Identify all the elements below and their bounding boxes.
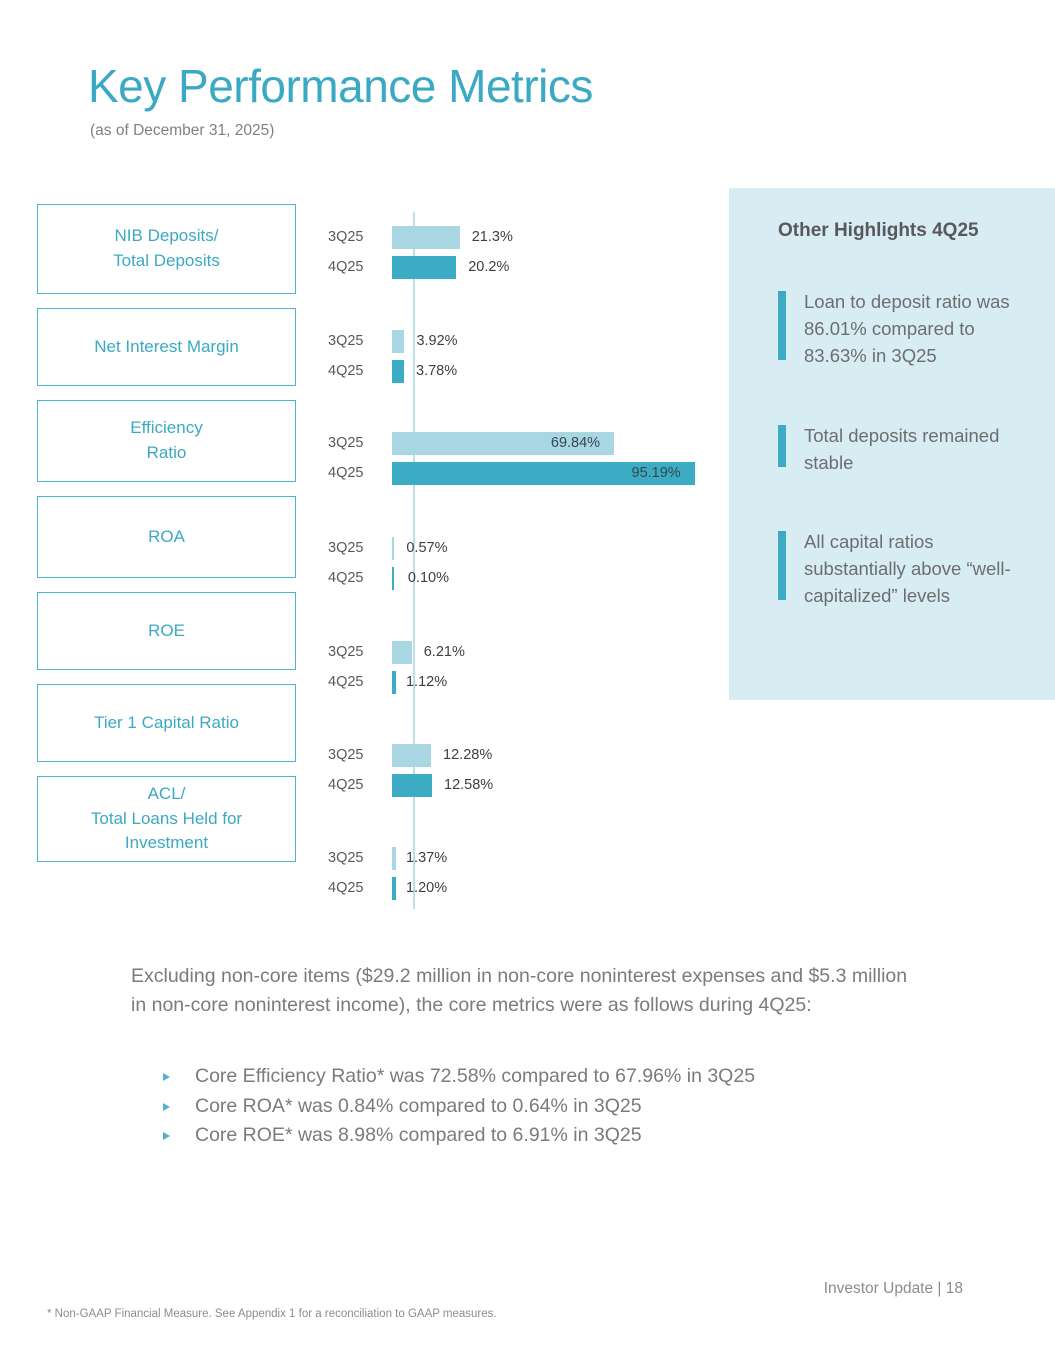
footer-page-label: Investor Update | 18 — [824, 1280, 963, 1298]
highlight-accent-bar — [778, 531, 786, 600]
bar-light — [392, 641, 412, 664]
bar-track: 1.37% — [392, 843, 720, 873]
bar-row: 4Q2512.58% — [320, 770, 720, 800]
bar-dark — [392, 877, 396, 900]
metric-label-box: Tier 1 Capital Ratio — [37, 684, 296, 762]
bar-row: 4Q2595.19% — [320, 458, 720, 488]
bar-quarter-label: 3Q25 — [320, 747, 392, 763]
bar-row: 3Q256.21% — [320, 637, 720, 667]
highlight-accent-bar — [778, 291, 786, 360]
bar-row: 4Q250.10% — [320, 563, 720, 593]
bar-row: 4Q253.78% — [320, 356, 720, 386]
list-item: Core ROE* was 8.98% compared to 6.91% in… — [160, 1121, 960, 1151]
bar-quarter-label: 3Q25 — [320, 540, 392, 556]
highlight-item: Loan to deposit ratio was 86.01% compare… — [778, 288, 1031, 370]
core-metrics-narrative: Excluding non-core items ($29.2 million … — [131, 962, 921, 1021]
bar-value-label: 12.58% — [444, 777, 493, 793]
highlights-list: Loan to deposit ratio was 86.01% compare… — [778, 288, 1031, 610]
metric-label-box: ROA — [37, 496, 296, 578]
footnote-text: * Non-GAAP Financial Measure. See Append… — [47, 1308, 497, 1320]
triangle-bullet-icon — [163, 1103, 170, 1111]
bar-value-label: 3.92% — [416, 333, 457, 349]
bar-track: 3.92% — [392, 326, 720, 356]
core-metrics-bullet-list: Core Efficiency Ratio* was 72.58% compar… — [160, 1062, 960, 1151]
bar-quarter-label: 4Q25 — [320, 570, 392, 586]
bar-value-label: 6.21% — [424, 644, 465, 660]
highlight-item: Total deposits remained stable — [778, 422, 1031, 476]
other-highlights-panel: Other Highlights 4Q25 Loan to deposit ra… — [729, 188, 1055, 700]
bar-quarter-label: 4Q25 — [320, 674, 392, 690]
kpi-bar-chart: 3Q2521.3%4Q2520.2%3Q253.92%4Q253.78%3Q25… — [320, 204, 720, 924]
metric-label-box: ACL/Total Loans Held forInvestment — [37, 776, 296, 862]
list-item: Core ROA* was 0.84% compared to 0.64% in… — [160, 1092, 960, 1122]
bar-track: 1.20% — [392, 873, 720, 903]
chart-group-tier-1-capital-ratio: 3Q2512.28%4Q2512.58% — [320, 740, 720, 800]
bar-quarter-label: 3Q25 — [320, 435, 392, 451]
bar-track: 0.10% — [392, 563, 720, 593]
metric-label-text: Tier 1 Capital Ratio — [94, 711, 239, 736]
bar-row: 3Q253.92% — [320, 326, 720, 356]
bar-quarter-label: 4Q25 — [320, 363, 392, 379]
bar-track: 21.3% — [392, 222, 720, 252]
bar-quarter-label: 4Q25 — [320, 880, 392, 896]
bar-row: 3Q251.37% — [320, 843, 720, 873]
bar-dark: 95.19% — [392, 462, 695, 485]
bar-track: 0.57% — [392, 533, 720, 563]
metric-label-text: ROE — [148, 619, 185, 644]
bar-track: 1.12% — [392, 667, 720, 697]
chart-group-roe: 3Q256.21%4Q251.12% — [320, 637, 720, 697]
highlight-accent-bar — [778, 425, 786, 467]
chart-group-roa: 3Q250.57%4Q250.10% — [320, 533, 720, 593]
bar-light — [392, 537, 394, 560]
bar-track: 6.21% — [392, 637, 720, 667]
bar-track: 20.2% — [392, 252, 720, 282]
bar-track: 95.19% — [392, 458, 720, 488]
highlight-text: Total deposits remained stable — [804, 425, 999, 473]
bar-light — [392, 847, 396, 870]
bar-row: 3Q2521.3% — [320, 222, 720, 252]
list-item-label: Core ROA* was 0.84% compared to 0.64% in… — [195, 1095, 642, 1117]
bar-value-label: 12.28% — [443, 747, 492, 763]
bar-value-label: 0.57% — [406, 540, 447, 556]
bar-quarter-label: 3Q25 — [320, 333, 392, 349]
bar-light — [392, 330, 404, 353]
bar-row: 4Q251.12% — [320, 667, 720, 697]
metric-label-text: ACL/Total Loans Held forInvestment — [91, 782, 242, 856]
chart-group-efficiency-ratio: 3Q2569.84%4Q2595.19% — [320, 428, 720, 488]
metric-label-text: EfficiencyRatio — [130, 416, 202, 465]
highlight-item: All capital ratios substantially above “… — [778, 528, 1031, 610]
bar-row: 3Q250.57% — [320, 533, 720, 563]
page-subtitle: (as of December 31, 2025) — [90, 122, 274, 140]
bar-row: 3Q2512.28% — [320, 740, 720, 770]
bar-dark — [392, 671, 396, 694]
bar-dark — [392, 774, 432, 797]
metric-label-box: EfficiencyRatio — [37, 400, 296, 482]
bar-value-label: 1.12% — [406, 674, 447, 690]
metric-label-box: Net Interest Margin — [37, 308, 296, 386]
metric-label-box: ROE — [37, 592, 296, 670]
bar-value-label: 1.20% — [406, 880, 447, 896]
highlight-text: Loan to deposit ratio was 86.01% compare… — [804, 291, 1010, 366]
metric-label-text: Net Interest Margin — [94, 335, 239, 360]
bar-row: 3Q2569.84% — [320, 428, 720, 458]
bar-quarter-label: 4Q25 — [320, 777, 392, 793]
chart-group-nib-deposits: 3Q2521.3%4Q2520.2% — [320, 222, 720, 282]
highlight-text: All capital ratios substantially above “… — [804, 531, 1011, 606]
bar-value-label: 20.2% — [468, 259, 509, 275]
page-title: Key Performance Metrics — [88, 62, 593, 110]
bar-quarter-label: 3Q25 — [320, 644, 392, 660]
bar-light — [392, 226, 460, 249]
chart-group-net-interest-margin: 3Q253.92%4Q253.78% — [320, 326, 720, 386]
bar-value-label: 1.37% — [406, 850, 447, 866]
bar-row: 4Q2520.2% — [320, 252, 720, 282]
bar-value-label: 21.3% — [472, 229, 513, 245]
list-item: Core Efficiency Ratio* was 72.58% compar… — [160, 1062, 960, 1092]
metric-label-column: NIB Deposits/Total DepositsNet Interest … — [37, 204, 296, 876]
bar-quarter-label: 4Q25 — [320, 259, 392, 275]
bar-value-label: 69.84% — [551, 435, 600, 451]
bar-value-label: 0.10% — [408, 570, 449, 586]
bar-dark — [392, 360, 404, 383]
metric-label-text: NIB Deposits/Total Deposits — [113, 224, 220, 273]
metric-label-text: ROA — [148, 525, 185, 550]
bar-dark — [392, 567, 394, 590]
bar-dark — [392, 256, 456, 279]
bar-track: 12.58% — [392, 770, 720, 800]
bar-track: 12.28% — [392, 740, 720, 770]
bar-light: 69.84% — [392, 432, 614, 455]
triangle-bullet-icon — [163, 1132, 170, 1140]
bar-row: 4Q251.20% — [320, 873, 720, 903]
bar-quarter-label: 3Q25 — [320, 229, 392, 245]
highlights-title: Other Highlights 4Q25 — [778, 220, 1031, 242]
bar-quarter-label: 3Q25 — [320, 850, 392, 866]
bar-track: 69.84% — [392, 428, 720, 458]
triangle-bullet-icon — [163, 1073, 170, 1081]
chart-group-acl-total-loans: 3Q251.37%4Q251.20% — [320, 843, 720, 903]
bar-track: 3.78% — [392, 356, 720, 386]
bar-value-label: 95.19% — [632, 465, 681, 481]
bar-light — [392, 744, 431, 767]
bar-value-label: 3.78% — [416, 363, 457, 379]
list-item-label: Core Efficiency Ratio* was 72.58% compar… — [195, 1065, 755, 1087]
bar-quarter-label: 4Q25 — [320, 465, 392, 481]
metric-label-box: NIB Deposits/Total Deposits — [37, 204, 296, 294]
list-item-label: Core ROE* was 8.98% compared to 6.91% in… — [195, 1124, 642, 1146]
